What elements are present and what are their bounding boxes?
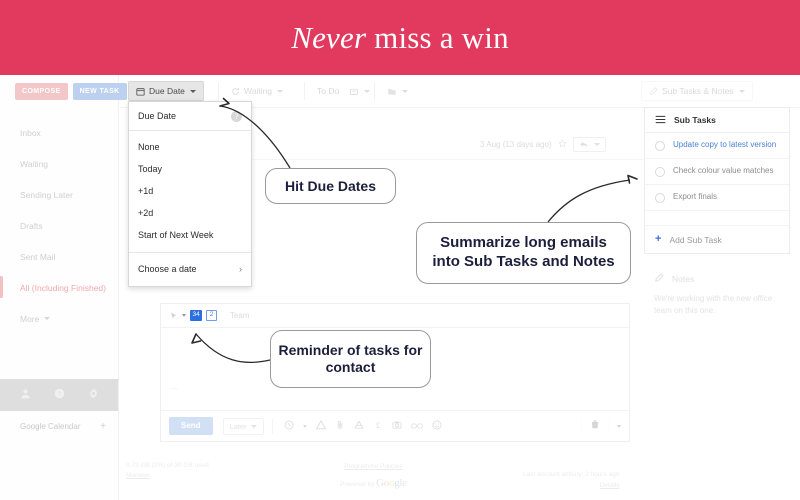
due-date-label: Due Date <box>149 86 185 96</box>
chevron-down-icon <box>364 90 370 93</box>
sidebar-actions: COMPOSE NEW TASK <box>15 83 127 100</box>
message-meta: 3 Aug (13 days ago) <box>480 137 606 152</box>
callout-summarize-emails: Summarize long emails into Sub Tasks and… <box>416 222 631 284</box>
account-activity: Last account activity: 2 hours ago Detai… <box>523 469 619 491</box>
toolbar-divider <box>304 82 305 100</box>
toolbar-divider <box>608 419 609 434</box>
archive-button[interactable] <box>342 81 377 101</box>
sidebar-item-label: More <box>20 314 39 324</box>
snooze-icon[interactable] <box>284 417 294 435</box>
dropdown-option-choose-a-date[interactable]: Choose a date › <box>129 258 251 280</box>
checkbox[interactable] <box>655 193 665 203</box>
sub-tasks-notes-button[interactable]: Sub Tasks & Notes <box>641 81 753 101</box>
chevron-down-icon <box>277 90 283 93</box>
sidebar-icon-strip: ? <box>0 379 118 411</box>
sidebar-item-label: All (Including Finished) <box>20 283 106 293</box>
compose-toolbar: Send Later £ <box>161 410 629 441</box>
sidebar-item-more[interactable]: More <box>0 303 118 334</box>
help-icon[interactable]: ? <box>54 386 65 404</box>
dropdown-option-start-of-next-week[interactable]: Start of Next Week <box>129 224 251 246</box>
currency-icon[interactable]: £ <box>373 417 383 435</box>
sidebar-item-label: Inbox <box>20 128 41 138</box>
manage-storage-link[interactable]: Manage <box>126 471 209 481</box>
dropdown-header: Due Date ? <box>129 102 251 131</box>
chevron-down-icon <box>594 143 600 146</box>
sidebar-item-sent-mail[interactable]: Sent Mail <box>0 241 118 272</box>
gear-icon[interactable] <box>88 386 99 404</box>
google-calendar-label: Google Calendar <box>20 422 80 431</box>
toolbar-divider <box>272 419 273 434</box>
svg-text:£: £ <box>376 421 380 430</box>
chevron-down-icon[interactable] <box>303 425 307 428</box>
sub-tasks-title: Sub Tasks <box>674 115 716 125</box>
sidebar: COMPOSE NEW TASK Inbox Waiting Sending L… <box>0 75 119 500</box>
dropdown-option-today[interactable]: Today <box>129 158 251 180</box>
reply-icon <box>579 140 589 149</box>
dropdown-title: Due Date <box>138 111 176 121</box>
sub-task-label: Update copy to latest version <box>673 140 776 151</box>
dropdown-option-none[interactable]: None <box>129 136 251 158</box>
compose-button[interactable]: COMPOSE <box>15 83 68 100</box>
cursor-icon <box>170 307 178 325</box>
notes-card: Notes We're working with the new office … <box>644 267 790 326</box>
warning-icon[interactable] <box>316 417 326 435</box>
calendar-icon <box>136 87 145 96</box>
sidebar-item-label: Drafts <box>20 221 43 231</box>
notes-header: Notes <box>644 267 790 291</box>
todo-label: To Do <box>317 86 339 96</box>
chevron-down-icon <box>739 90 745 93</box>
sidebar-item-all-including-finished[interactable]: All (Including Finished) <box>0 272 118 303</box>
sidebar-item-label: Sent Mail <box>20 252 55 262</box>
secondary-count-badge[interactable]: 2 <box>206 310 217 321</box>
attach-icon[interactable] <box>335 417 345 435</box>
chevron-down-icon <box>190 90 196 93</box>
banner-title-rest: miss a win <box>366 20 509 55</box>
drive-icon[interactable] <box>354 417 364 435</box>
banner-title: Never miss a win <box>291 20 509 56</box>
folder-icon <box>387 87 397 96</box>
send-button[interactable]: Send <box>169 417 213 435</box>
emoji-icon[interactable] <box>432 417 442 435</box>
sub-task-item[interactable]: Update copy to latest version <box>645 133 789 159</box>
notes-title: Notes <box>672 274 694 284</box>
dropdown-option-plus-1d[interactable]: +1d <box>129 180 251 202</box>
footer-center: Programme Policies Powered by Google <box>340 461 407 494</box>
storage-usage: 0.73 GB (2%) of 30 GB used <box>126 461 209 471</box>
choose-a-date-label: Choose a date <box>138 264 197 274</box>
toolbar-divider <box>581 419 582 434</box>
todo-button[interactable]: To Do <box>310 81 346 101</box>
checkbox[interactable] <box>655 141 665 151</box>
chevron-down-icon[interactable] <box>182 314 186 317</box>
due-date-button[interactable]: Due Date <box>128 81 204 101</box>
sidebar-item-label: Sending Later <box>20 190 73 200</box>
message-date: 3 Aug (13 days ago) <box>480 140 552 149</box>
dropdown-options: None Today +1d +2d Start of Next Week <box>129 131 251 252</box>
chevron-down-icon[interactable] <box>617 425 621 428</box>
add-calendar-icon[interactable]: + <box>100 421 106 432</box>
person-icon[interactable] <box>20 386 31 404</box>
google-calendar-row[interactable]: Google Calendar + <box>0 411 118 441</box>
sub-tasks-card: Sub Tasks Update copy to latest version … <box>644 107 790 254</box>
add-sub-task-button[interactable]: + Add Sub Task <box>645 226 789 253</box>
svg-text:?: ? <box>57 391 61 398</box>
sub-tasks-header: Sub Tasks <box>645 108 789 133</box>
powered-by-label: Powered by <box>340 481 374 488</box>
sub-task-label: Export finals <box>673 192 717 203</box>
toolbar-divider <box>374 82 375 100</box>
notes-body[interactable]: We're working with the new office team o… <box>644 291 790 326</box>
chevron-right-icon: › <box>239 264 242 274</box>
sidebar-item-drafts[interactable]: Drafts <box>0 210 118 241</box>
banner-title-emphasis: Never <box>291 20 366 55</box>
photo-icon[interactable] <box>392 417 402 435</box>
sidebar-item-label: Waiting <box>20 159 48 169</box>
add-sub-task-label: Add Sub Task <box>669 235 721 245</box>
activity-details-link[interactable]: Details <box>523 480 619 491</box>
google-logo: Google <box>376 477 407 489</box>
chevron-down-icon <box>251 425 257 428</box>
chevron-down-icon <box>402 90 408 93</box>
recipient-input[interactable]: Team <box>230 311 250 320</box>
dropdown-option-plus-2d[interactable]: +2d <box>129 202 251 224</box>
trash-icon[interactable] <box>590 417 600 435</box>
pencil-icon <box>649 87 658 96</box>
compose-icon-group: £ <box>284 417 442 435</box>
send-later-label: Later <box>230 422 247 431</box>
last-activity: Last account activity: 2 hours ago <box>523 469 619 480</box>
promo-banner: Never miss a win <box>0 0 800 75</box>
compose-right-actions <box>579 417 621 435</box>
compose-body[interactable]: ... <box>170 382 180 391</box>
dropdown-footer: Choose a date › <box>129 252 251 286</box>
waiting-button[interactable]: Waiting <box>224 81 290 101</box>
powered-by: Powered by Google <box>340 473 407 494</box>
sub-tasks-notes-label: Sub Tasks & Notes <box>662 86 734 96</box>
list-icon[interactable] <box>655 115 666 126</box>
refresh-icon <box>231 87 240 96</box>
sidebar-item-sending-later[interactable]: Sending Later <box>0 179 118 210</box>
callout-reminder-of-tasks: Reminder of tasks for contact <box>270 330 431 388</box>
plus-icon: + <box>655 234 661 245</box>
star-icon[interactable] <box>558 139 567 150</box>
due-date-dropdown: Due Date ? None Today +1d +2d Start of N… <box>128 101 252 287</box>
task-count-badge[interactable]: 34 <box>190 310 202 321</box>
right-rail: Sub Tasks Update copy to latest version … <box>644 107 790 326</box>
reply-button[interactable] <box>573 137 606 152</box>
sidebar-item-inbox[interactable]: Inbox <box>0 117 118 148</box>
sub-task-empty-row <box>645 211 789 226</box>
folder-button[interactable] <box>380 81 415 101</box>
waiting-label: Waiting <box>244 86 272 96</box>
compose-recipients-row[interactable]: 34 2 Team <box>161 304 629 328</box>
sub-task-item[interactable]: Check colour value matches <box>645 159 789 185</box>
storage-info: 0.73 GB (2%) of 30 GB used Manage <box>126 461 209 482</box>
chevron-down-icon <box>44 317 50 320</box>
pencil-icon[interactable] <box>654 273 664 285</box>
sidebar-nav: Inbox Waiting Sending Later Drafts Sent … <box>0 117 118 334</box>
programme-policies-link[interactable]: Programme Policies <box>340 461 407 473</box>
footer: 0.73 GB (2%) of 30 GB used Manage Progra… <box>118 453 800 500</box>
sub-task-item[interactable]: Export finals <box>645 185 789 211</box>
send-later-button[interactable]: Later <box>223 418 264 435</box>
sidebar-item-waiting[interactable]: Waiting <box>0 148 118 179</box>
link-icon[interactable] <box>411 417 423 435</box>
callout-hit-due-dates: Hit Due Dates <box>265 168 396 204</box>
sub-task-label: Check colour value matches <box>673 166 774 177</box>
toolbar-divider <box>218 82 219 100</box>
app-screenshot: COMPOSE NEW TASK Inbox Waiting Sending L… <box>0 75 800 500</box>
archive-icon <box>349 87 359 96</box>
checkbox[interactable] <box>655 167 665 177</box>
help-icon[interactable]: ? <box>231 111 242 122</box>
